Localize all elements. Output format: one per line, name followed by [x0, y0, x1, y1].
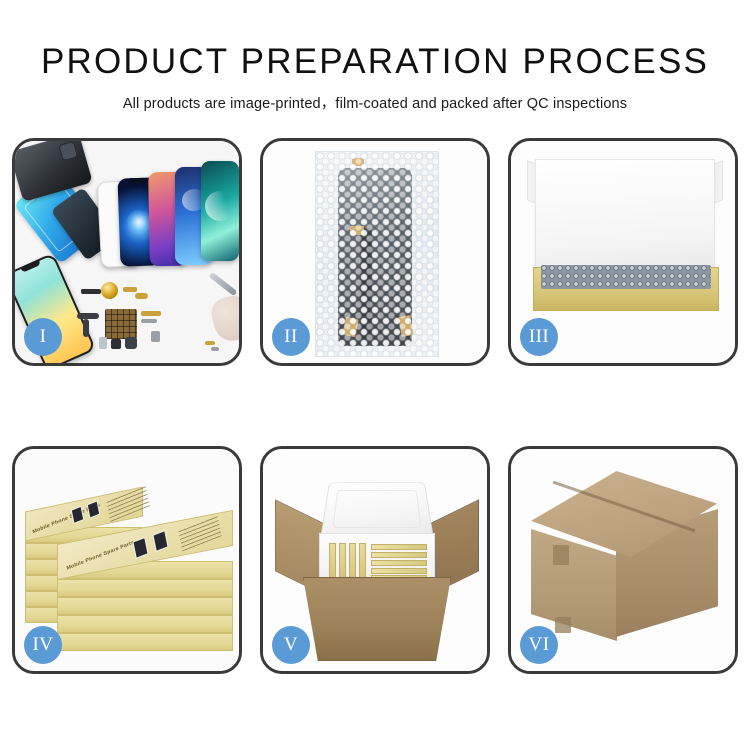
yellow-box: [349, 543, 356, 581]
spare-part-chip: [135, 293, 148, 299]
spare-part-chip: [125, 337, 137, 349]
spare-part-chip: [141, 311, 161, 316]
step-badge-3: III: [520, 318, 558, 356]
white-box-lid: [535, 159, 715, 275]
step-3-illustration: III: [511, 141, 735, 363]
step-badge-4: IV: [24, 626, 62, 664]
spare-part-flex: [77, 313, 99, 319]
step-6-illustration: VI: [511, 449, 735, 671]
step-panel-6: VI: [508, 446, 738, 674]
yellow-boxes-inside: [327, 543, 427, 581]
carton-tape: [553, 545, 569, 565]
yellow-box: [371, 560, 427, 566]
step-panel-3: III: [508, 138, 738, 366]
spare-part-chip: [205, 341, 215, 345]
bubble-wrapped-contents: [541, 265, 711, 289]
stacked-box: [57, 597, 233, 615]
yellow-box: [339, 543, 346, 581]
process-steps-grid: I II: [12, 138, 738, 674]
box-thumbnail: [132, 537, 148, 559]
spare-part-chip: [99, 337, 107, 349]
product-preparation-infographic: PRODUCT PREPARATION PROCESS All products…: [0, 0, 750, 750]
page-subtitle: All products are image-printed，film-coat…: [0, 92, 750, 113]
box-label: Mobile Phone Spare Parts: [66, 540, 135, 572]
yellow-box: [359, 543, 366, 581]
step-panel-2: II: [260, 138, 490, 366]
step-badge-2: II: [272, 318, 310, 356]
step-panel-1: I: [12, 138, 242, 366]
spare-part-chip: [211, 347, 219, 351]
step-badge-5: V: [272, 626, 310, 664]
spare-part-flex: [83, 319, 89, 337]
page-title: PRODUCT PREPARATION PROCESS: [0, 44, 750, 79]
box-text-lines: [178, 515, 221, 551]
yellow-box: [329, 543, 336, 581]
gold-coil-part: [101, 282, 118, 299]
bubble-wrap-bag: [315, 151, 439, 357]
box-thumbnail: [152, 530, 168, 552]
step-5-illustration: V: [263, 449, 487, 671]
carton-tape: [555, 617, 571, 633]
step-2-illustration: II: [263, 141, 487, 363]
step-badge-1: I: [24, 318, 62, 356]
header: PRODUCT PREPARATION PROCESS All products…: [0, 0, 750, 113]
step-4-illustration: Mobile Phone Spare Parts Mobile Phone Sp…: [15, 449, 239, 671]
box-text-lines: [106, 485, 149, 522]
screw-grid-tray: [105, 309, 137, 339]
step-badge-6: VI: [520, 626, 558, 664]
yellow-box: [371, 568, 427, 574]
phone-screen-teal: [201, 161, 239, 261]
stacked-box: [57, 579, 233, 597]
step-panel-5: V: [260, 446, 490, 674]
shipping-carton-open: [303, 577, 451, 661]
spare-part-chip: [123, 287, 137, 292]
spare-part-chip: [141, 319, 157, 323]
yellow-box: [371, 552, 427, 558]
yellow-box: [371, 544, 427, 550]
step-panel-4: Mobile Phone Spare Parts Mobile Phone Sp…: [12, 446, 242, 674]
stacked-box: [57, 633, 233, 651]
spare-part-chip: [81, 289, 101, 294]
stacked-box: [57, 615, 233, 633]
step-1-illustration: I: [15, 141, 239, 363]
foam-box-lid: [320, 482, 434, 538]
spare-part-chip: [111, 339, 121, 349]
spare-part-chip: [151, 331, 160, 342]
